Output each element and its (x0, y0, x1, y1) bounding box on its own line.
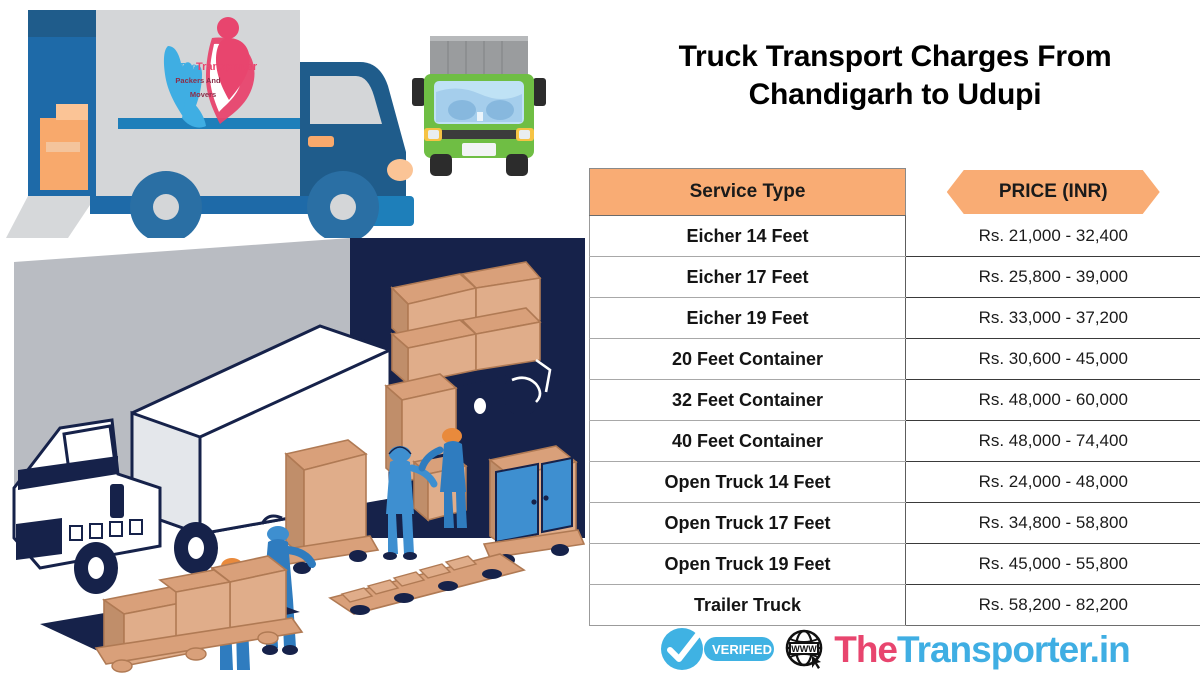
cell-price: Rs. 24,000 - 48,000 (906, 462, 1200, 503)
illustration-panel: The Transporter Packers And Movers (0, 0, 585, 675)
brand-wordmark: TheTransporter.in (834, 631, 1130, 668)
table-row: 20 Feet ContainerRs. 30,600 - 45,000 (590, 339, 1200, 380)
cell-service-type: 32 Feet Container (590, 380, 906, 421)
table-row: Trailer TruckRs. 58,200 - 82,200 (590, 585, 1200, 626)
rate-table-container: Service Type PRICE (INR) Eicher 14 FeetR… (589, 168, 1200, 626)
truck-logo-the: The (179, 62, 197, 73)
globe-www-icon: WWW (785, 629, 825, 669)
cell-service-type: Eicher 14 Feet (590, 216, 906, 257)
table-row: Open Truck 14 FeetRs. 24,000 - 48,000 (590, 462, 1200, 503)
table-row: 40 Feet ContainerRs. 48,000 - 74,400 (590, 421, 1200, 462)
table-body: Eicher 14 FeetRs. 21,000 - 32,400Eicher … (590, 216, 1200, 626)
cell-service-type: Trailer Truck (590, 585, 906, 626)
brand-suffix: Transporter.in (897, 629, 1130, 670)
brand-prefix: The (834, 629, 897, 670)
warehouse-loading-illustration (0, 238, 585, 675)
page-title-line-1: Truck Transport Charges From (600, 38, 1190, 76)
truck-logo-packers: Packers And (175, 76, 221, 85)
table-row: Eicher 14 FeetRs. 21,000 - 32,400 (590, 216, 1200, 257)
cell-price: Rs. 45,000 - 55,800 (906, 544, 1200, 585)
verified-badge-icon: VERIFIED (660, 628, 776, 670)
cell-service-type: Open Truck 19 Feet (590, 544, 906, 585)
cell-service-type: Open Truck 14 Feet (590, 462, 906, 503)
table-row: Open Truck 19 FeetRs. 45,000 - 55,800 (590, 544, 1200, 585)
cell-price: Rs. 21,000 - 32,400 (906, 216, 1200, 257)
verified-label: VERIFIED (712, 642, 772, 657)
table-row: 32 Feet ContainerRs. 48,000 - 60,000 (590, 380, 1200, 421)
table-row: Eicher 17 FeetRs. 25,800 - 39,000 (590, 257, 1200, 298)
cell-price: Rs. 48,000 - 60,000 (906, 380, 1200, 421)
cell-price: Rs. 34,800 - 58,800 (906, 503, 1200, 544)
cell-price: Rs. 25,800 - 39,000 (906, 257, 1200, 298)
table-header-row: Service Type PRICE (INR) (590, 169, 1200, 216)
delivery-truck-illustration: The Transporter Packers And Movers (0, 0, 585, 238)
cell-price: Rs. 33,000 - 37,200 (906, 298, 1200, 339)
header-price-cell: PRICE (INR) (906, 169, 1200, 216)
truck-logo-transporter: Transporter (196, 61, 258, 73)
header-service-type: Service Type (590, 169, 906, 216)
page-title-line-2: Chandigarh to Udupi (600, 76, 1190, 114)
cell-service-type: 40 Feet Container (590, 421, 906, 462)
cell-price: Rs. 48,000 - 74,400 (906, 421, 1200, 462)
page-title: Truck Transport Charges From Chandigarh … (600, 38, 1190, 115)
footer-branding: VERIFIED WWW TheTransporter.in (600, 624, 1190, 674)
truck-logo-movers: Movers (190, 90, 216, 99)
table-row: Open Truck 17 FeetRs. 34,800 - 58,800 (590, 503, 1200, 544)
green-truck-illustration (412, 36, 546, 176)
table-row: Eicher 19 FeetRs. 33,000 - 37,200 (590, 298, 1200, 339)
cell-price: Rs. 30,600 - 45,000 (906, 339, 1200, 380)
cell-service-type: 20 Feet Container (590, 339, 906, 380)
infographic-page: The Transporter Packers And Movers (0, 0, 1200, 675)
cell-service-type: Eicher 17 Feet (590, 257, 906, 298)
globe-www-label: WWW (791, 644, 817, 654)
cell-service-type: Open Truck 17 Feet (590, 503, 906, 544)
header-price-hexagon: PRICE (INR) (947, 170, 1160, 214)
cell-service-type: Eicher 19 Feet (590, 298, 906, 339)
cell-price: Rs. 58,200 - 82,200 (906, 585, 1200, 626)
rate-table: Service Type PRICE (INR) Eicher 14 FeetR… (589, 168, 1200, 626)
